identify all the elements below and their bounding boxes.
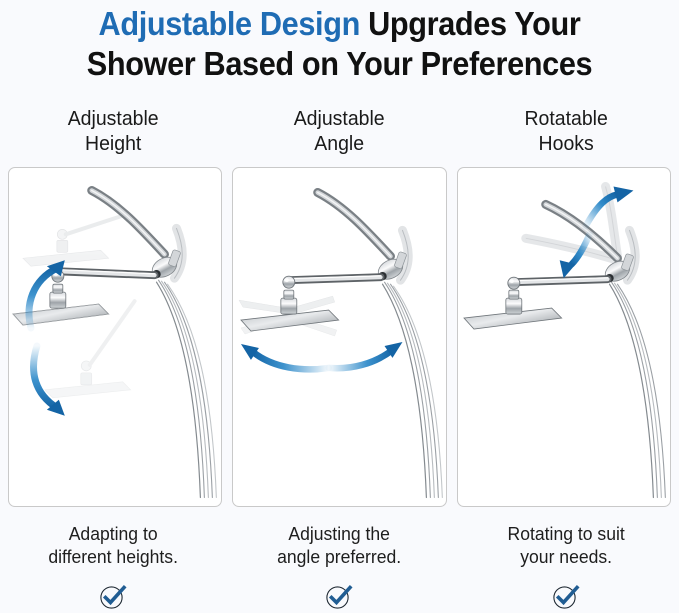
check-cell-adjustable-height bbox=[0, 582, 226, 610]
heading-line-1: Rotatable bbox=[458, 106, 673, 131]
main-swivel-arm bbox=[513, 278, 607, 282]
upper-hook-arm bbox=[318, 192, 391, 256]
arrow-tilt-double-icon bbox=[241, 342, 402, 369]
shower-head-angle-adjust-diagram bbox=[233, 168, 445, 506]
caption-line-1: Adjusting the bbox=[232, 522, 447, 545]
feature-panel-adjustable-angle bbox=[232, 167, 446, 507]
check-circle-icon bbox=[98, 582, 128, 610]
heading-line-2: Angle bbox=[232, 131, 447, 156]
arrow-down-icon bbox=[34, 346, 65, 416]
check-cell-adjustable-angle bbox=[226, 582, 452, 610]
main-swivel-arm bbox=[57, 270, 155, 276]
feature-check-row bbox=[0, 582, 679, 610]
heading-line-2: Hooks bbox=[458, 131, 673, 156]
feature-caption-adjustable-height: Adapting to different heights. bbox=[6, 522, 221, 568]
heading-line-2: Height bbox=[6, 131, 221, 156]
heading-line-1: Adjustable bbox=[232, 106, 447, 131]
shower-hook-rotate-diagram bbox=[458, 168, 670, 506]
page-title: Adjustable Design Upgrades Your Shower B… bbox=[24, 0, 655, 84]
feature-caption-rotatable-hooks: Rotating to suit your needs. bbox=[458, 522, 673, 568]
shower-head-height-adjust-diagram bbox=[9, 168, 221, 506]
feature-headings-row: Adjustable Height Adjustable Angle Rotat… bbox=[0, 106, 679, 156]
feature-heading-adjustable-angle: Adjustable Angle bbox=[232, 106, 447, 156]
feature-panels-row bbox=[0, 167, 679, 507]
caption-line-2: different heights. bbox=[6, 545, 221, 568]
feature-heading-adjustable-height: Adjustable Height bbox=[6, 106, 221, 156]
caption-line-2: angle preferred. bbox=[232, 545, 447, 568]
page-title-line-2: Shower Based on Your Preferences bbox=[24, 44, 655, 84]
caption-line-2: your needs. bbox=[458, 545, 673, 568]
ghost-head-upper bbox=[23, 214, 127, 266]
caption-line-1: Adapting to bbox=[6, 522, 221, 545]
feature-panel-rotatable-hooks bbox=[457, 167, 671, 507]
page-title-rest: Upgrades Your bbox=[360, 5, 580, 42]
feature-caption-adjustable-angle: Adjusting the angle preferred. bbox=[232, 522, 447, 568]
check-circle-icon bbox=[324, 582, 354, 610]
main-swivel-arm bbox=[289, 276, 381, 280]
page-title-accent: Adjustable Design bbox=[99, 5, 360, 42]
check-circle-icon bbox=[551, 582, 581, 610]
feature-heading-rotatable-hooks: Rotatable Hooks bbox=[458, 106, 673, 156]
caption-line-1: Rotating to suit bbox=[458, 522, 673, 545]
feature-captions-row: Adapting to different heights. Adjusting… bbox=[0, 522, 679, 568]
heading-line-1: Adjustable bbox=[6, 106, 221, 131]
page-title-line-1: Adjustable Design Upgrades Your bbox=[24, 4, 655, 44]
arrow-rotate-down-icon bbox=[559, 234, 589, 278]
check-cell-rotatable-hooks bbox=[453, 582, 679, 610]
feature-panel-adjustable-height bbox=[8, 167, 222, 507]
